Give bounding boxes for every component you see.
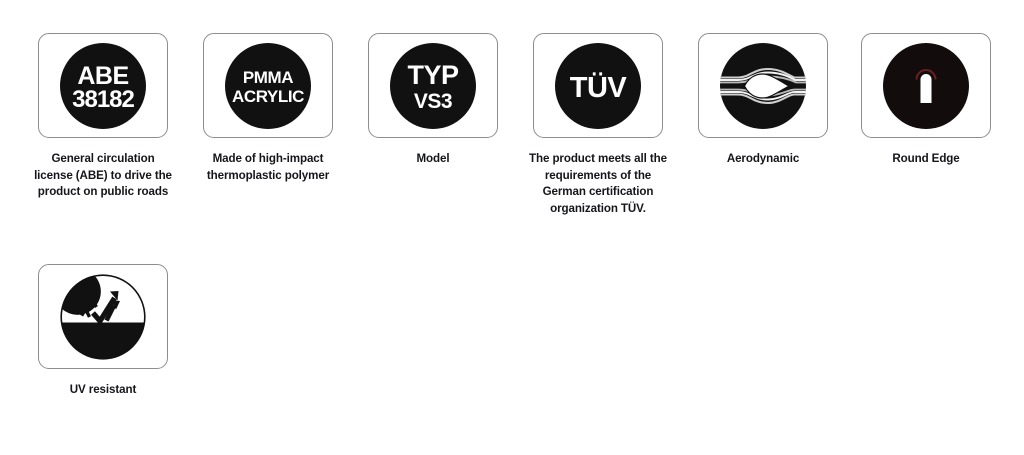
tuv-badge-line1: TÜV [570, 71, 628, 104]
feature-caption-round-edge: Round Edge [855, 151, 997, 168]
feature-caption-typ: Model [362, 151, 504, 168]
icon-card-tuv: TÜV [533, 33, 663, 138]
icon-card-round-edge [861, 33, 991, 138]
feature-item-typ: TYP VS3 Model [368, 33, 498, 168]
feature-item-abe: ABE 38182 General circulation license (A… [38, 33, 168, 201]
icon-card-abe: ABE 38182 [38, 33, 168, 138]
round-edge-icon [883, 43, 969, 129]
feature-caption-aerodynamic: Aerodynamic [692, 151, 834, 168]
abe-badge-line2: 38182 [72, 86, 134, 113]
feature-badge-grid: ABE 38182 General circulation license (A… [0, 0, 1024, 455]
icon-card-aerodynamic [698, 33, 828, 138]
pmma-badge-line1: PMMA [243, 68, 293, 87]
pmma-acrylic-badge-icon: PMMA ACRYLIC [225, 43, 311, 129]
feature-item-pmma: PMMA ACRYLIC Made of high-impact thermop… [203, 33, 333, 184]
icon-card-uv-resistant [38, 264, 168, 369]
feature-caption-tuv: The product meets all the requirements o… [527, 151, 669, 217]
aerodynamic-airflow-icon [720, 43, 806, 129]
typ-badge-line1: TYP [407, 60, 459, 90]
uv-resistant-sun-icon [60, 274, 146, 360]
pmma-badge-line2: ACRYLIC [232, 87, 304, 106]
feature-item-uv-resistant: UV resistant [38, 264, 168, 399]
feature-caption-uv-resistant: UV resistant [32, 382, 174, 399]
feature-caption-pmma: Made of high-impact thermoplastic polyme… [197, 151, 339, 184]
typ-badge-line2: VS3 [414, 90, 452, 113]
icon-card-pmma: PMMA ACRYLIC [203, 33, 333, 138]
icon-card-typ: TYP VS3 [368, 33, 498, 138]
feature-caption-abe: General circulation license (ABE) to dri… [32, 151, 174, 201]
typ-vs3-badge-icon: TYP VS3 [390, 43, 476, 129]
feature-item-round-edge: Round Edge [861, 33, 991, 168]
feature-item-aerodynamic: Aerodynamic [698, 33, 828, 168]
abe-badge-icon: ABE 38182 [60, 43, 146, 129]
tuv-badge-icon: TÜV [555, 43, 641, 129]
feature-item-tuv: TÜV The product meets all the requiremen… [533, 33, 663, 217]
